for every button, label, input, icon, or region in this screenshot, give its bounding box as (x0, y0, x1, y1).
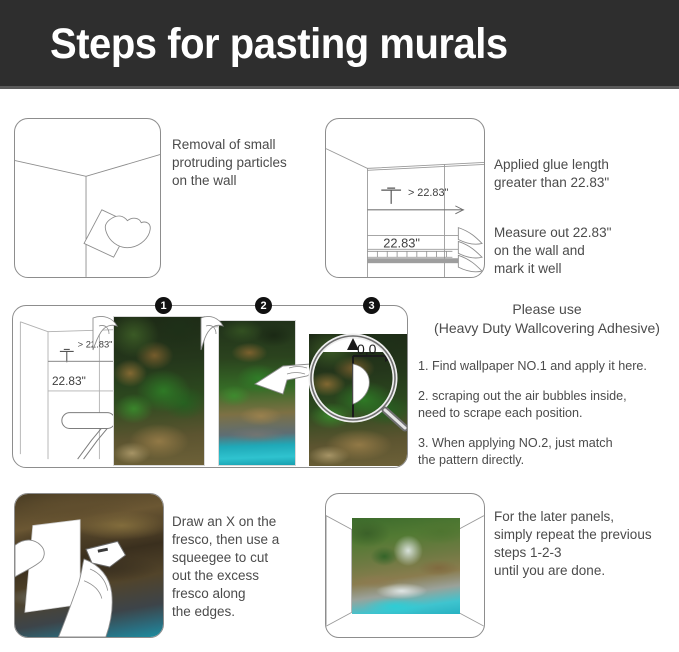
adhesive-heading-line2: (Heavy Duty Wallcovering Adhesive) (418, 319, 676, 338)
measure-label-top: > 22.83" (408, 187, 449, 199)
page-title: Steps for pasting murals (50, 20, 508, 69)
waterfall-mural-photo (352, 518, 460, 614)
page-header: Steps for pasting murals (0, 0, 679, 89)
mid-measure-label-bottom: 22.83" (52, 374, 86, 388)
hand-squeegee-art (15, 494, 163, 637)
instruction-1: 1. Find wallpaper NO.1 and apply it here… (418, 358, 676, 375)
illustration-cut-x (14, 493, 164, 638)
instruction-2: 2. scraping out the air bubbles inside, … (418, 388, 676, 422)
header-divider (0, 86, 679, 89)
magnifier-origin-label: 0,0 (357, 341, 377, 357)
caption-remove-particles: Removal of small protruding particles on… (172, 136, 332, 190)
caption-cut-x: Draw an X on the fresco, then use a sque… (172, 513, 322, 621)
peel-hand-icon-1 (91, 312, 123, 352)
adhesive-heading-line1: Please use (418, 300, 676, 319)
peel-hand-icon-2 (199, 312, 229, 352)
mural-strip-1 (113, 316, 205, 466)
instructions-block: Please use (Heavy Duty Wallcovering Adhe… (418, 300, 676, 469)
wall-measure-art: > 22.83" 22.83" (326, 119, 484, 277)
illustration-repeat-panels (325, 493, 485, 638)
instruction-3: 3. When applying NO.2, just match the pa… (418, 435, 676, 469)
badge-step-1: 1 (155, 297, 172, 314)
caption-repeat-panels: For the later panels, simply repeat the … (494, 508, 679, 580)
measure-label-bottom: 22.83" (383, 235, 420, 250)
badge-step-3: 3 (363, 297, 380, 314)
wall-corner-scraper-art (15, 119, 160, 277)
badge-step-2: 2 (255, 297, 272, 314)
magnifier-icon: 0,0 (301, 322, 408, 442)
illustration-remove-particles (14, 118, 161, 278)
caption-applied-glue-length: Applied glue length greater than 22.83" (494, 156, 674, 192)
caption-measure-out: Measure out 22.83" on the wall and mark … (494, 224, 674, 278)
illustration-apply-panels: > 22.83" 22.83" (12, 305, 408, 468)
illustration-measure-wall: > 22.83" 22.83" (325, 118, 485, 278)
